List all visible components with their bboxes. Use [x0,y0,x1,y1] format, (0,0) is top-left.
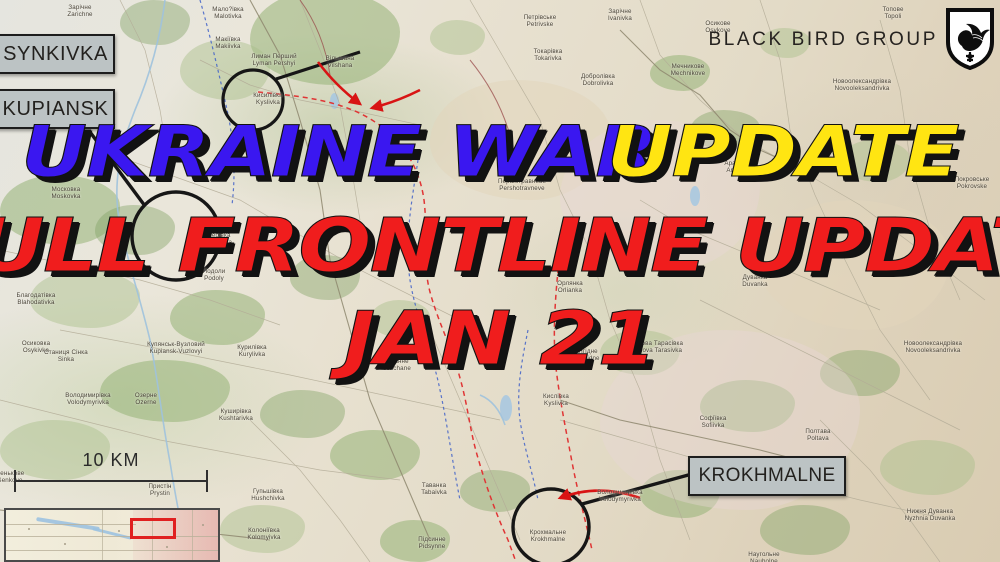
map-town-label: МакіївкаMakiivka [215,36,240,50]
headline-date: JAN 21 [344,296,657,382]
overview-minimap[interactable] [4,508,220,562]
headline-line-1: UKRAINE WARUPDATE [0,111,1000,193]
map-town-label: НаугольнеNauholne [748,551,779,562]
map-town-label: КуширівкаKushtarivka [219,408,253,422]
scale-bar: 10 KM [12,450,210,498]
map-town-label: Лиман ПершийLyman Pershyi [251,53,296,67]
map-town-label: ТокарівкаTokarivka [534,48,563,62]
annotation-circle-krokhmalne [513,474,692,562]
map-town-label: ПідсиннеPidsynne [418,536,445,550]
callout-label: KROKHMALNE [698,465,835,487]
headline-ukraine-war: UKRAINE WAR [22,111,657,193]
callout-synkivka[interactable]: SYNKIVKA [0,34,115,74]
map-town-label: ОзернеOzerne [135,392,157,406]
map-town-label: ПолтаваPoltava [805,428,830,442]
map-town-label: ЗарічнеZarichne [67,4,92,18]
map-town-label: КрохмальнеKrokhmalne [530,529,566,543]
map-town-label: КисилівкаKyslivka [253,92,283,106]
map-town-label: КислівкаKyslivka [543,393,569,407]
headline-full-frontline-update: FULL FRONTLINE UPDATE [0,203,1000,289]
map-town-label: ТоповеTopoli [882,6,903,20]
headline-line-2: FULL FRONTLINE UPDATE [0,203,1000,289]
thumbnail-canvas: ЗарічнеZarichneМало?івкаMalotivkaПетрівс… [0,0,1000,562]
minimap-highlight-box [130,518,176,539]
map-town-label: Мало?івкаMalotivka [212,6,244,20]
map-town-label: ДобролівкаDobrolivka [581,73,615,87]
map-town-label: Нижня ДуванкаNyzhnia Duvanka [905,508,956,522]
headline-update: UPDATE [607,111,959,193]
black-swan-shield-icon [946,8,994,70]
callout-label: SYNKIVKA [3,43,108,66]
scale-bar-tick-right [206,470,208,492]
map-town-label: ВолодимирівкаVolodymyrivka [597,489,643,503]
headline-line-3: JAN 21 [0,296,1000,382]
map-town-label: ТаванкаTabaivka [421,482,447,496]
map-town-label: СофіївкаSofiivka [700,415,727,429]
map-town-label: ГупьшівкаHushchivka [251,488,284,502]
brand-name: BLACK BIRD GROUP [708,29,938,51]
map-town-label: МечниковеMechnikove [671,63,706,77]
map-town-label: ВільшанаVilshana [326,55,355,69]
callout-krokhmalne[interactable]: KROKHMALNE [688,456,846,496]
scale-bar-tick-left [14,470,16,492]
scale-bar-label: 10 KM [12,450,210,471]
map-town-label: ПетрівськеPetrivske [524,14,557,28]
scale-bar-line [14,480,208,482]
map-town-label: ЗарічнеIvanivka [608,8,632,22]
map-town-label: НовоолександрівкаNovooleksandrivka [833,78,891,92]
map-town-label: ВолодимирівкаVolodymyrivka [65,392,111,406]
map-town-label: КолоніївкаKolomyivka [247,527,280,541]
